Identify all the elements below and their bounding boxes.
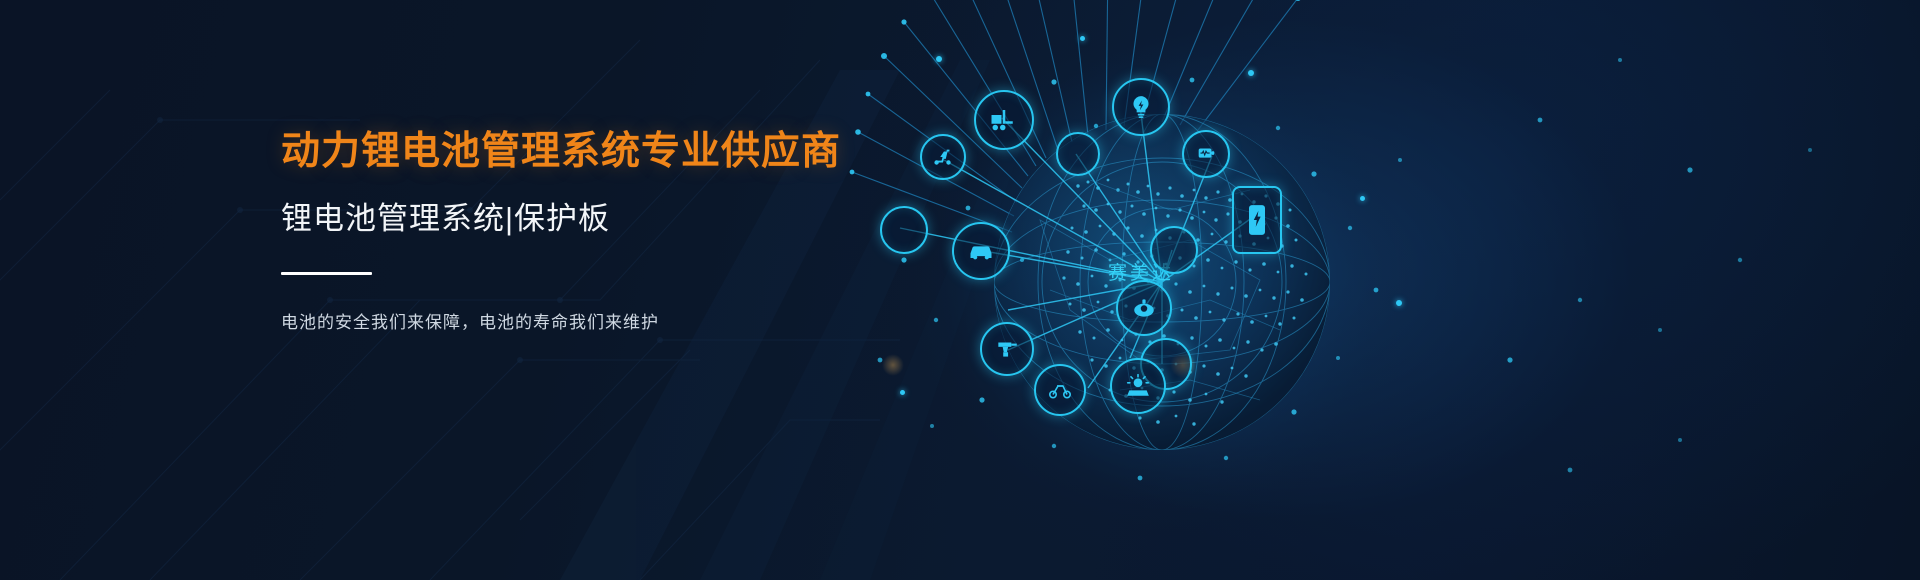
banner-copy: 动力锂电池管理系统专业供应商 锂电池管理系统|保护板 电池的安全我们来保障，电池… — [281, 132, 901, 333]
forklift-glyph — [989, 105, 1019, 135]
node-ring-small-b — [1056, 132, 1100, 176]
power-drill-icon — [980, 322, 1034, 376]
title-divider — [281, 272, 372, 275]
network-dot — [900, 390, 905, 395]
node-ring-small-a — [880, 206, 928, 254]
medical-device-icon — [1182, 130, 1230, 178]
lightbulb-glyph — [1128, 94, 1154, 120]
power-bank-icon — [1232, 186, 1282, 254]
glow-accent-b — [882, 354, 904, 376]
solar-panel-icon — [1110, 358, 1166, 414]
hero-banner: 动力锂电池管理系统专业供应商 锂电池管理系统|保护板 电池的安全我们来保障，电池… — [0, 0, 1920, 580]
car-icon — [952, 222, 1010, 280]
network-dot — [1396, 300, 1402, 306]
network-dot — [936, 56, 942, 62]
network-dot — [1360, 196, 1365, 201]
scooter-glyph — [932, 146, 954, 168]
network-dot — [1248, 70, 1254, 76]
lightbulb-icon — [1112, 78, 1170, 136]
node-ring-small-c — [1150, 226, 1198, 274]
scooter-icon — [920, 134, 966, 180]
car-glyph — [967, 237, 995, 265]
digital-globe-graphic: 赛美达 — [840, 0, 1480, 580]
medical-device-glyph — [1195, 143, 1217, 165]
e-bike-glyph — [1048, 378, 1072, 402]
robot-vacuum-icon — [1116, 280, 1172, 336]
e-bike-icon — [1034, 364, 1086, 416]
robot-vacuum-glyph — [1131, 295, 1157, 321]
banner-tagline: 电池的安全我们来保障，电池的寿命我们来维护 — [281, 308, 901, 333]
page-title: 动力锂电池管理系统专业供应商 — [281, 132, 901, 171]
right-field-dots — [1480, 0, 1920, 580]
forklift-icon — [974, 90, 1034, 150]
banner-subtitle: 锂电池管理系统|保护板 — [281, 203, 901, 234]
solar-panel-glyph — [1125, 373, 1151, 399]
power-bank-glyph — [1247, 204, 1267, 236]
network-dot — [1080, 36, 1085, 41]
power-drill-glyph — [994, 336, 1020, 362]
